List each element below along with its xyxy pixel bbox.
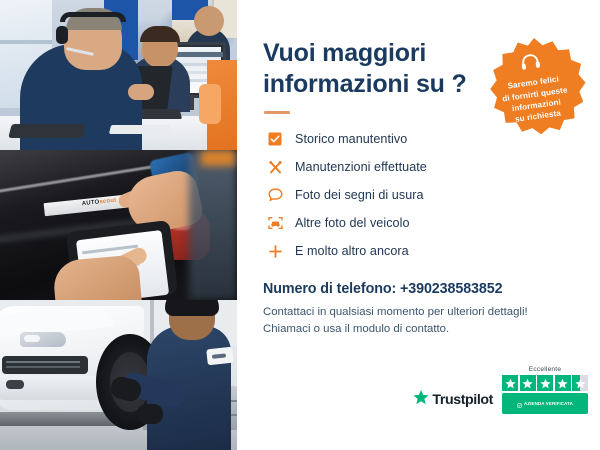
headlight-decor [20, 332, 66, 347]
starburst-shape [482, 36, 586, 140]
feature-list: Storico manutentivo Manutenzioni effettu… [263, 127, 600, 263]
wrench-cross-icon [263, 160, 287, 175]
orange-object-decor [207, 60, 237, 150]
keyboard-second-decor [109, 125, 171, 134]
car-scan-frame-icon [263, 216, 287, 230]
feature-label: Manutenzioni effettuate [295, 160, 427, 174]
mechanic-glove-second-decor [137, 404, 163, 424]
feature-item-other-photos: Altre foto del veicolo [263, 211, 600, 235]
speech-bubble-icon [263, 188, 287, 202]
trustpilot-stars [502, 375, 588, 391]
headset-mic-decor [66, 47, 94, 56]
star-half-5 [572, 375, 588, 391]
background-orange-decor [201, 150, 235, 166]
photo-vehicle-damage-inspection-with-phone: AUTOscout [0, 150, 237, 300]
contact-subtext-line-2: Chiamaci o usa il modulo di contatto. [263, 323, 449, 335]
feature-item-maintenance-done: Manutenzioni effettuate [263, 155, 600, 179]
headset-band-decor [60, 12, 126, 22]
ruler-brand-label: AUTOscout [82, 198, 117, 208]
promo-card: AUTOscout [0, 0, 600, 450]
title-divider [264, 111, 290, 114]
title-line-1: Vuoi maggiori [263, 39, 426, 67]
trustpilot-widget[interactable]: Trustpilot Eccellente AZIENDA VERIFICATA [413, 366, 588, 414]
photo-column: AUTOscout [0, 0, 237, 450]
page-title: Vuoi maggiori informazioni su ? [263, 38, 478, 99]
title-line-2: informazioni su ? [263, 70, 467, 98]
contact-subtext: Contattaci in qualsiasi momento per ulte… [263, 304, 600, 339]
keyboard-decor [8, 124, 85, 138]
phone-number-label: Numero di telefono: +390238583852 [263, 281, 600, 297]
ruler-brand-right: scout [99, 198, 117, 206]
lift-arm-decor [0, 412, 120, 426]
checkbox-checked-icon [263, 132, 287, 146]
trustpilot-verified-badge: AZIENDA VERIFICATA [502, 393, 588, 414]
star-filled-1 [502, 375, 518, 391]
star-filled-3 [537, 375, 553, 391]
feature-item-wear-photos: Foto dei segni di usura [263, 183, 600, 207]
verified-check-icon [517, 395, 522, 413]
trustpilot-logo[interactable]: Trustpilot [413, 389, 493, 414]
feature-label: E molto altro ancora [295, 244, 409, 258]
background-blur-decor [189, 150, 237, 300]
trustpilot-star-icon [413, 389, 429, 410]
hand-decor [128, 84, 154, 100]
content-panel: Vuoi maggiori informazioni su ? Storico … [237, 0, 600, 450]
photo-mechanic-inspecting-car-on-lift [0, 300, 237, 450]
feature-label: Storico manutentivo [295, 132, 407, 146]
uniform-badge-decor [206, 347, 234, 366]
callout-badge: Saremo felici di fornirti queste informa… [482, 36, 586, 140]
headset-cup-decor [56, 26, 68, 44]
trustpilot-rating: Eccellente AZIENDA VERIFICATA [502, 366, 588, 414]
star-filled-2 [520, 375, 536, 391]
trustpilot-verified-label: AZIENDA VERIFICATA [524, 401, 573, 406]
fog-light-decor [6, 380, 24, 389]
trustpilot-name: Trustpilot [432, 392, 493, 408]
contact-subtext-line-1: Contattaci in qualsiasi momento per ulte… [263, 306, 528, 318]
plus-icon [263, 244, 287, 259]
ruler-brand-left: AUTO [82, 199, 100, 207]
photo-call-center-agents-with-headsets [0, 0, 237, 150]
feature-label: Altre foto del veicolo [295, 216, 410, 230]
trustpilot-rating-label: Eccellente [529, 366, 561, 373]
star-filled-4 [555, 375, 571, 391]
feature-label: Foto dei segni di usura [295, 188, 424, 202]
grille-decor [2, 356, 88, 374]
feature-item-much-more: E molto altro ancora [263, 239, 600, 263]
